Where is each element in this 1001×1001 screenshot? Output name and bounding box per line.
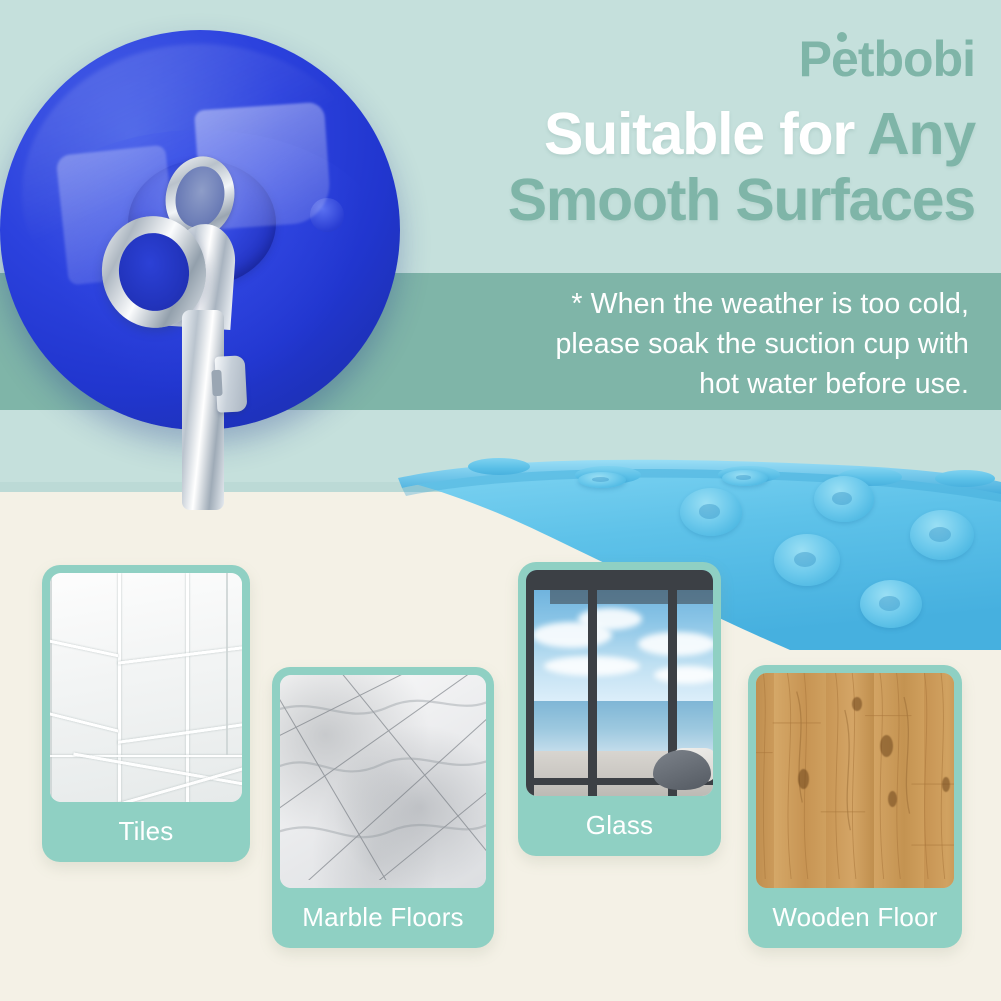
mat-suction-cup-stem-3: [722, 470, 768, 486]
brand-dot-icon: [837, 32, 847, 42]
mat-suction-cup-flat-1: [468, 458, 530, 475]
glass-frame-top: [526, 570, 713, 590]
marble-label: Marble Floors: [280, 888, 486, 948]
wood-photo: [756, 673, 954, 888]
hero-suction-cup-photo: [0, 10, 450, 510]
glass-frame-mullion-1: [588, 588, 597, 796]
glass-photo: [526, 570, 713, 796]
headline-suitable-for: Suitable for: [544, 101, 867, 167]
care-note-line-1: * When the weather is too cold,: [409, 284, 969, 324]
surface-card-marble[interactable]: Marble Floors: [272, 667, 494, 948]
wood-label: Wooden Floor: [756, 888, 954, 948]
glass-sea: [526, 701, 713, 751]
snap-hook-gate-notch: [211, 370, 222, 396]
mat-suction-cup-3: [910, 510, 974, 560]
mat-suction-cup-5: [860, 580, 922, 628]
mat-suction-cup-4: [774, 534, 840, 586]
brand-logo: Petbobi: [799, 34, 975, 84]
glass-frame-left: [526, 584, 534, 796]
surface-card-wood[interactable]: Wooden Floor: [748, 665, 962, 948]
surface-card-glass[interactable]: Glass: [518, 562, 721, 856]
mat-suction-cup-2: [814, 476, 874, 522]
glass-frame-header: [550, 590, 713, 604]
care-note: * When the weather is too cold, please s…: [409, 284, 969, 404]
mat-suction-cup-flat-5: [935, 470, 995, 487]
product-infographic: Petbobi Suitable for Any Smooth Surfaces…: [0, 0, 1001, 1001]
mat-suction-cup-1: [680, 488, 742, 536]
marble-veins: [280, 675, 486, 880]
brand-name: Petbobi: [799, 31, 975, 87]
surface-card-tiles[interactable]: Tiles: [42, 565, 250, 862]
mat-suction-cup-stem-2: [578, 472, 626, 488]
care-note-line-2: please soak the suction cup with: [409, 324, 969, 364]
glass-chair: [653, 750, 711, 790]
marble-photo: [280, 675, 486, 888]
care-note-line-3: hot water before use.: [409, 364, 969, 404]
headline-any: Any: [867, 101, 975, 167]
tiles-label: Tiles: [50, 802, 242, 862]
tiles-photo: [50, 573, 242, 802]
glass-label: Glass: [526, 796, 713, 856]
